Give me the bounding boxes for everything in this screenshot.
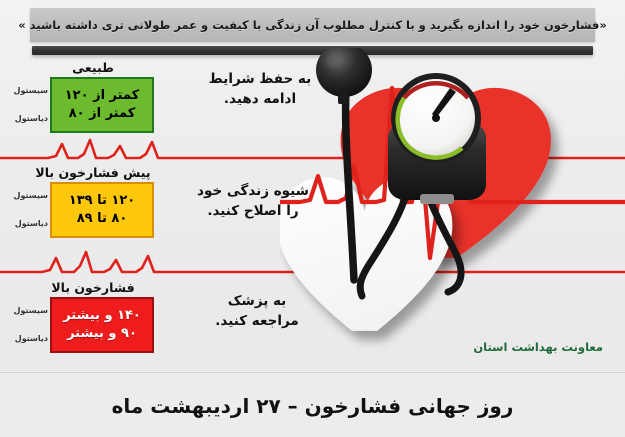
category-prehypertension: پیش فشارخون بالا سیستول دیاستول ۱۲۰ تا ۱… xyxy=(0,165,186,240)
advice-prehypertension-line1: شیوه زندگی خود xyxy=(183,182,323,202)
systolic-value: کمتر از ۱۲۰ xyxy=(57,87,147,105)
category-hypertension-measure-labels: سیستول دیاستول xyxy=(2,297,48,353)
category-prehypertension-title: پیش فشارخون بالا xyxy=(0,165,186,180)
banner-slogan: «فشارخون خود را اندازه بگیرید و با کنترل… xyxy=(18,18,607,32)
advice-prehypertension: شیوه زندگی خود را اصلاح کنید. xyxy=(183,182,323,221)
advice-normal: به حفظ شرایط ادامه دهید. xyxy=(190,70,330,109)
category-prehypertension-value-box: ۱۲۰ تا ۱۳۹ ۸۰ تا ۸۹ xyxy=(50,182,154,238)
advice-normal-line1: به حفظ شرایط xyxy=(190,70,330,90)
diastolic-value: ۹۰ و بیشتر xyxy=(57,325,147,343)
category-normal-title: طبیعی xyxy=(0,60,186,75)
diastolic-label: دیاستول xyxy=(2,210,48,238)
advice-hypertension-line2: مراجعه کنید. xyxy=(187,312,327,332)
top-banner: «فشارخون خود را اندازه بگیرید و با کنترل… xyxy=(30,8,595,42)
category-prehypertension-measure-labels: سیستول دیاستول xyxy=(2,182,48,238)
category-normal: طبیعی سیستول دیاستول کمتر از ۱۲۰ کمتر از… xyxy=(0,60,186,135)
advice-normal-line2: ادامه دهید. xyxy=(190,90,330,110)
category-hypertension-value-box: ۱۴۰ و بیشتر ۹۰ و بیشتر xyxy=(50,297,154,353)
footer-bar: روز جهانی فشارخون – ۲۷ اردیبهشت ماه xyxy=(0,372,625,437)
diastolic-value: کمتر از ۸۰ xyxy=(57,105,147,123)
category-hypertension-title: فشارخون بالا xyxy=(0,280,186,295)
advice-hypertension-line1: به پزشک xyxy=(187,292,327,312)
infographic-poster: «فشارخون خود را اندازه بگیرید و با کنترل… xyxy=(0,0,625,437)
systolic-label: سیستول xyxy=(2,182,48,210)
systolic-label: سیستول xyxy=(2,297,48,325)
advice-hypertension: به پزشک مراجعه کنید. xyxy=(187,292,327,331)
systolic-value: ۱۴۰ و بیشتر xyxy=(57,307,147,325)
advice-prehypertension-line2: را اصلاح کنید. xyxy=(183,202,323,222)
systolic-value: ۱۲۰ تا ۱۳۹ xyxy=(57,192,147,210)
diastolic-label: دیاستول xyxy=(2,325,48,353)
category-normal-measure-labels: سیستول دیاستول xyxy=(2,77,48,133)
diastolic-label: دیاستول xyxy=(2,105,48,133)
diastolic-value: ۸۰ تا ۸۹ xyxy=(57,210,147,228)
systolic-label: سیستول xyxy=(2,77,48,105)
category-hypertension: فشارخون بالا سیستول دیاستول ۱۴۰ و بیشتر … xyxy=(0,280,186,355)
department-credit: معاونت بهداشت استان xyxy=(473,340,603,354)
artwork-illustration xyxy=(280,48,625,360)
category-normal-value-box: کمتر از ۱۲۰ کمتر از ۸۰ xyxy=(50,77,154,133)
footer-title: روز جهانی فشارخون – ۲۷ اردیبهشت ماه xyxy=(112,394,514,418)
